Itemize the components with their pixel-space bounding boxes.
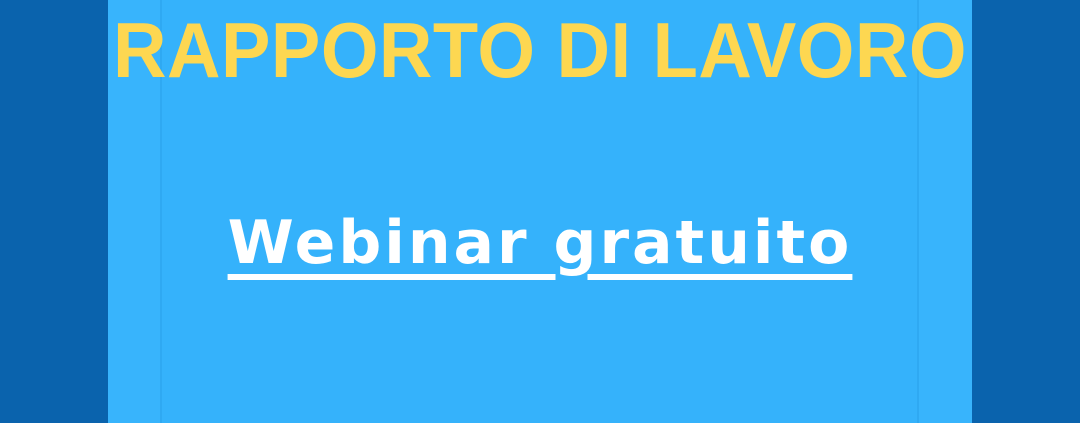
slide-title: RAPPORTO DI LAVORO <box>27 8 1053 92</box>
slide-subtitle: Webinar gratuito <box>228 206 853 280</box>
presentation-slide: RAPPORTO DI LAVORO Webinar gratuito <box>0 0 1080 423</box>
slide-subtitle-container: Webinar gratuito <box>0 206 1080 280</box>
